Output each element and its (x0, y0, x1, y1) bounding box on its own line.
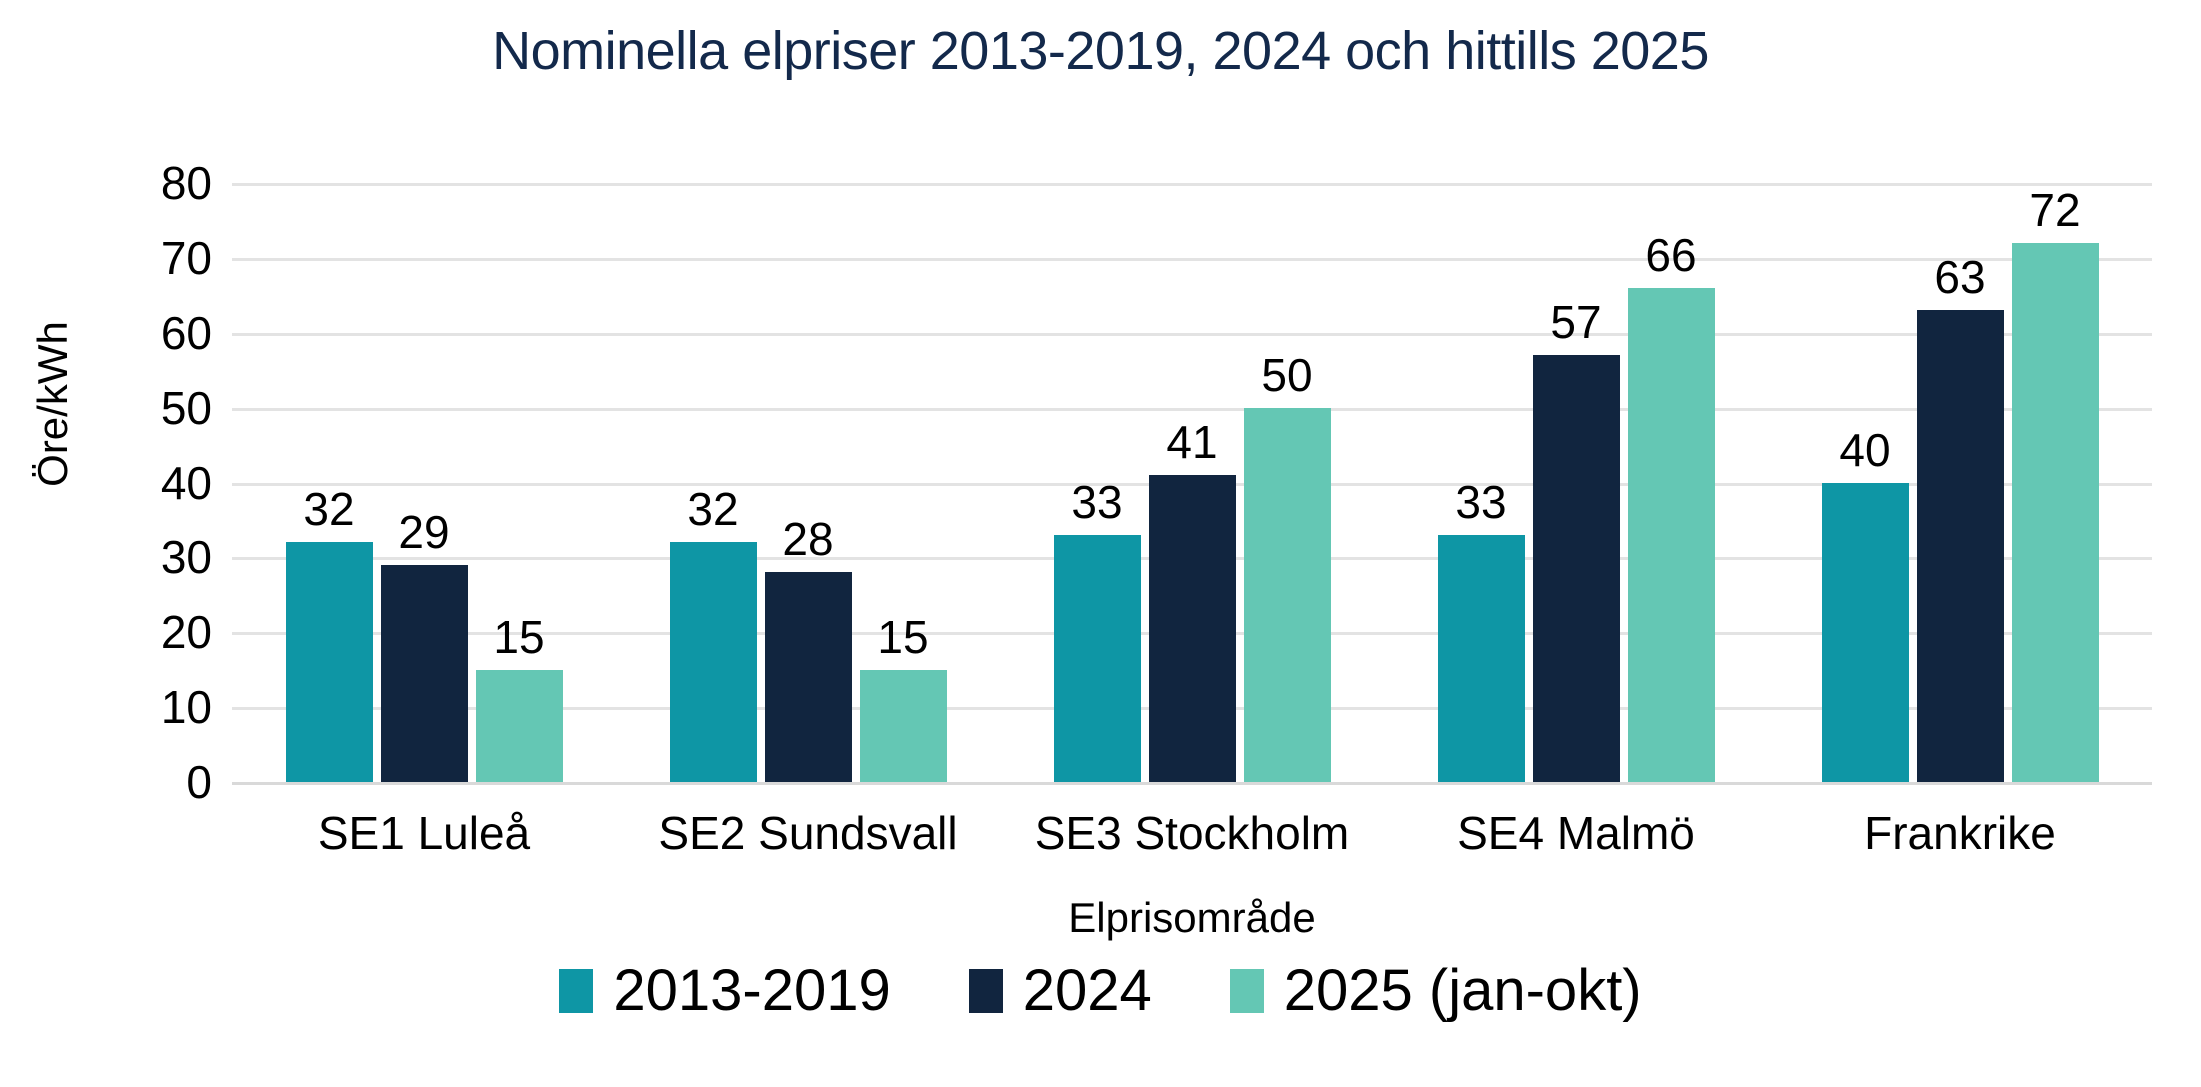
bar-slot: 72 (2012, 183, 2099, 782)
bar-value-label: 66 (1645, 232, 1696, 278)
chart-title: Nominella elpriser 2013-2019, 2024 och h… (0, 20, 2201, 82)
y-axis-tick: 60 (161, 310, 212, 356)
y-axis-tick: 40 (161, 460, 212, 506)
x-axis-tick: SE3 Stockholm (1000, 806, 1384, 860)
bar-group: 322815 (616, 183, 1000, 782)
x-axis-tick: SE1 Luleå (232, 806, 616, 860)
y-axis-tick-labels: 80706050403020100 (80, 183, 212, 782)
bar-value-label: 29 (398, 509, 449, 555)
y-axis-tick: 50 (161, 385, 212, 431)
bar[interactable] (1149, 475, 1236, 782)
axis-baseline (232, 782, 2152, 785)
bar-value-label: 32 (687, 486, 738, 532)
x-axis-tick-labels: SE1 LuleåSE2 SundsvallSE3 StockholmSE4 M… (232, 806, 2152, 860)
bar-slot: 15 (476, 183, 563, 782)
bar[interactable] (1822, 483, 1909, 783)
bar[interactable] (860, 670, 947, 782)
bar-value-label: 41 (1166, 419, 1217, 465)
bar-value-label: 15 (877, 614, 928, 660)
y-axis-tick: 10 (161, 684, 212, 730)
y-axis-tick: 20 (161, 609, 212, 655)
bar-slot: 57 (1533, 183, 1620, 782)
bar-slot: 29 (381, 183, 468, 782)
bar[interactable] (1054, 535, 1141, 782)
bar-value-label: 57 (1550, 299, 1601, 345)
y-axis-tick: 30 (161, 534, 212, 580)
bar[interactable] (1244, 408, 1331, 782)
x-axis-title: Elprisområde (232, 894, 2152, 942)
bar-value-label: 63 (1934, 254, 1985, 300)
legend-label: 2025 (jan-okt) (1284, 962, 1642, 1020)
bar-slot: 40 (1822, 183, 1909, 782)
bar-slot: 28 (765, 183, 852, 782)
bar[interactable] (1917, 310, 2004, 782)
legend-swatch-icon (559, 969, 593, 1013)
bar-value-label: 32 (303, 486, 354, 532)
bar[interactable] (765, 572, 852, 782)
bar-slot: 66 (1628, 183, 1715, 782)
bar[interactable] (1628, 288, 1715, 782)
bar-slot: 32 (286, 183, 373, 782)
legend-label: 2024 (1023, 962, 1152, 1020)
bar[interactable] (476, 670, 563, 782)
bar-value-label: 33 (1071, 479, 1122, 525)
legend-swatch-icon (969, 969, 1003, 1013)
bar[interactable] (670, 542, 757, 782)
bar-value-label: 15 (493, 614, 544, 660)
bar-slot: 41 (1149, 183, 1236, 782)
bar-value-label: 28 (782, 516, 833, 562)
y-axis-title: Öre/kWh (29, 289, 77, 519)
bar-group: 406372 (1768, 183, 2152, 782)
bar[interactable] (381, 565, 468, 782)
bar[interactable] (286, 542, 373, 782)
bar[interactable] (2012, 243, 2099, 782)
bar-groups: 322915322815334150335766406372 (232, 183, 2152, 782)
x-axis-tick: SE4 Malmö (1384, 806, 1768, 860)
bar-value-label: 33 (1455, 479, 1506, 525)
bar-group: 322915 (232, 183, 616, 782)
y-axis-tick: 70 (161, 235, 212, 281)
bar[interactable] (1533, 355, 1620, 782)
bar[interactable] (1438, 535, 1525, 782)
bar-value-label: 40 (1839, 427, 1890, 473)
bar-value-label: 72 (2029, 187, 2080, 233)
bar-slot: 32 (670, 183, 757, 782)
bar-value-label: 50 (1261, 352, 1312, 398)
bar-slot: 63 (1917, 183, 2004, 782)
legend-label: 2013-2019 (613, 962, 890, 1020)
bar-slot: 33 (1054, 183, 1141, 782)
legend-item[interactable]: 2013-2019 (559, 962, 890, 1020)
x-axis-tick: SE2 Sundsvall (616, 806, 1000, 860)
x-axis-tick: Frankrike (1768, 806, 2152, 860)
bar-slot: 15 (860, 183, 947, 782)
bar-slot: 50 (1244, 183, 1331, 782)
legend-item[interactable]: 2025 (jan-okt) (1230, 962, 1642, 1020)
legend-swatch-icon (1230, 969, 1264, 1013)
bar-group: 335766 (1384, 183, 1768, 782)
bar-slot: 33 (1438, 183, 1525, 782)
y-axis-tick: 80 (161, 160, 212, 206)
bar-group: 334150 (1000, 183, 1384, 782)
y-axis-tick: 0 (186, 759, 212, 805)
chart-legend: 2013-201920242025 (jan-okt) (0, 962, 2201, 1020)
legend-item[interactable]: 2024 (969, 962, 1152, 1020)
